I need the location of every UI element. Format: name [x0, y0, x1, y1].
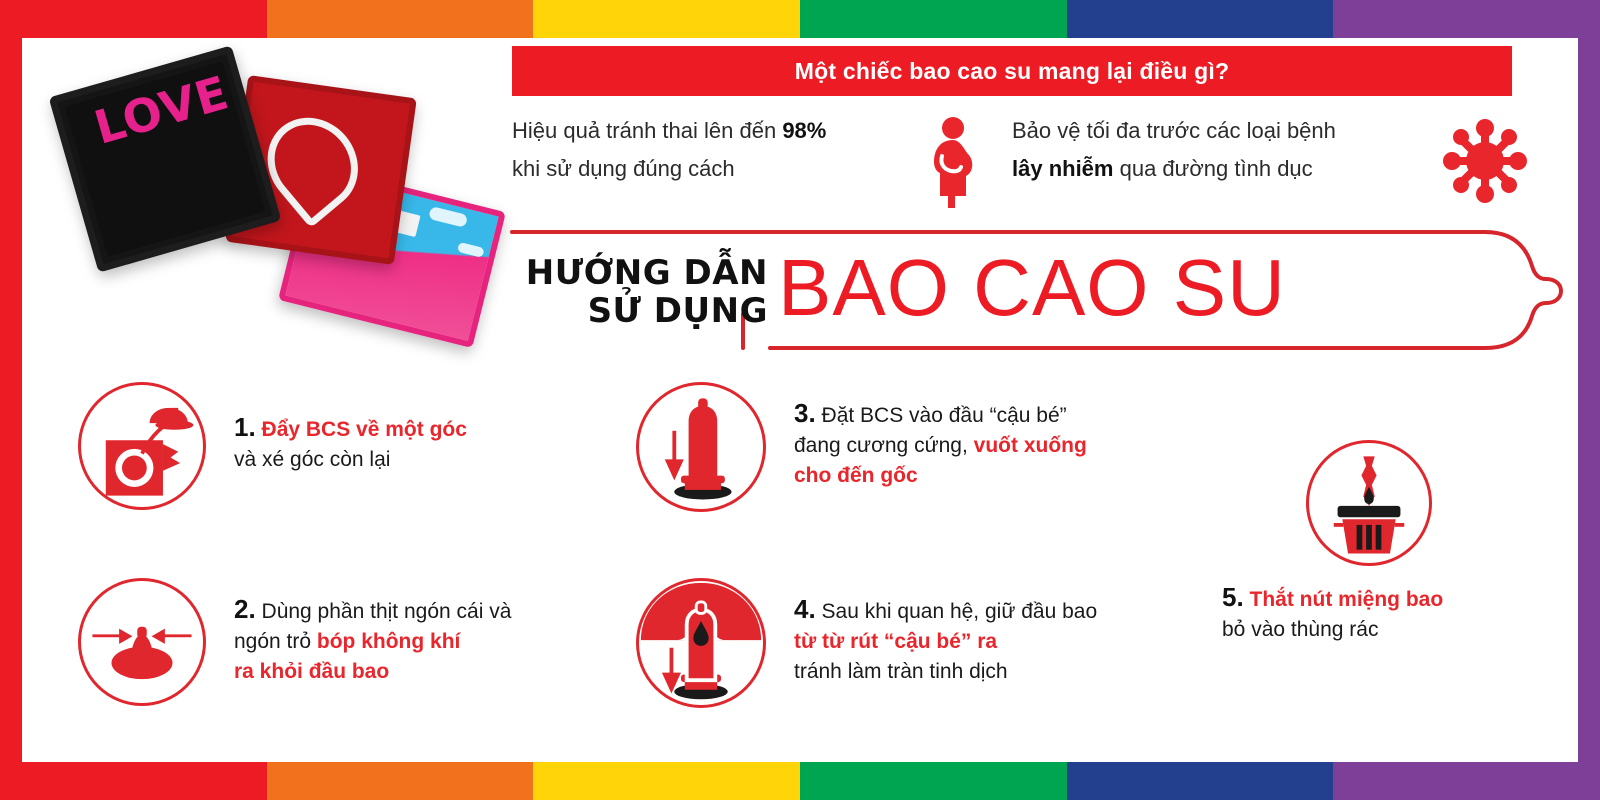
benefits-row: Hiệu quả tránh thai lên đến 98% khi sử d…	[512, 112, 1522, 212]
pinch-tip-arrows-icon	[78, 578, 206, 706]
step-2: 2. Dùng phần thịt ngón cái và ngón trỏ b…	[78, 578, 511, 706]
condom-packet-tear-icon	[78, 382, 206, 510]
step-4-line-3: tránh làm tràn tinh dịch	[794, 657, 1097, 687]
benefit-1-line1-plain: Hiệu quả tránh thai lên đến	[512, 118, 782, 143]
title-subtitle: HƯỚNG DẪN SỬ DỤNG	[518, 254, 768, 330]
condom-removal-drop-icon	[636, 578, 766, 708]
step-1-line-1: 1. Đẩy BCS về một góc	[234, 412, 467, 445]
step-4-text: 4. Sau khi quan hệ, giữ đầu bao từ từ rú…	[794, 594, 1097, 687]
step-2-line-2: ngón trỏ bóp không khí	[234, 627, 511, 657]
benefit-1-line2: khi sử dụng đúng cách	[512, 156, 735, 181]
step-4-line-2: từ từ rút “cậu bé” ra	[794, 627, 1097, 657]
title-subtitle-line2: SỬ DỤNG	[518, 292, 768, 330]
packet-black-label: LOVE	[65, 61, 266, 256]
pregnant-woman-icon	[920, 116, 984, 208]
step-2-line-3: ra khỏi đầu bao	[234, 657, 511, 687]
step-4-line-1: 4. Sau khi quan hệ, giữ đầu bao	[794, 594, 1097, 627]
benefit-infection: Bảo vệ tối đa trước các loại bệnh lây nh…	[1012, 112, 1432, 188]
title-block: HƯỚNG DẪN SỬ DỤNG BAO CAO SU	[510, 226, 1565, 354]
benefit-infection-text: Bảo vệ tối đa trước các loại bệnh lây nh…	[1012, 112, 1336, 188]
step-4: 4. Sau khi quan hệ, giữ đầu bao từ từ rú…	[636, 578, 1097, 708]
step-3-text: 3. Đặt BCS vào đầu “cậu bé” đang cương c…	[794, 398, 1087, 491]
step-1-line-2: và xé góc còn lại	[234, 445, 467, 475]
step-2-text: 2. Dùng phần thịt ngón cái và ngón trỏ b…	[234, 594, 511, 687]
step-2-line-1: 2. Dùng phần thịt ngón cái và	[234, 594, 511, 627]
step-3-line-2: đang cương cứng, vuốt xuống	[794, 431, 1087, 461]
header-banner-title: Một chiếc bao cao su mang lại điều gì?	[795, 58, 1229, 85]
benefit-1-line1-bold: 98%	[782, 118, 826, 143]
step-3: 3. Đặt BCS vào đầu “cậu bé” đang cương c…	[636, 382, 1087, 512]
virus-icon	[1442, 118, 1528, 204]
trash-bin-knot-icon	[1306, 440, 1432, 566]
step-3-line-3: cho đến gốc	[794, 461, 1087, 491]
title-main: BAO CAO SU	[778, 242, 1286, 334]
benefit-2-line2-plain: qua đường tình dục	[1113, 156, 1312, 181]
step-5: 5. Thắt nút miệng bao bỏ vào thùng rác	[1222, 440, 1562, 645]
benefit-2-line1: Bảo vệ tối đa trước các loại bệnh	[1012, 118, 1336, 143]
rolled-condom-down-arrow-icon	[636, 382, 766, 512]
infographic-page: LOVE ME LOVE Một chiếc bao cao su mang l…	[0, 0, 1600, 800]
benefit-contraception-text: Hiệu quả tránh thai lên đến 98% khi sử d…	[512, 112, 826, 188]
step-5-line-1: 5. Thắt nút miệng bao	[1222, 582, 1562, 615]
step-5-text: 5. Thắt nút miệng bao bỏ vào thùng rác	[1222, 582, 1562, 645]
step-3-line-1: 3. Đặt BCS vào đầu “cậu bé”	[794, 398, 1087, 431]
benefit-contraception: Hiệu quả tránh thai lên đến 98% khi sử d…	[512, 112, 942, 188]
condom-packets-photo: LOVE ME LOVE	[60, 58, 480, 358]
step-1: 1. Đẩy BCS về một góc và xé góc còn lại	[78, 382, 467, 510]
benefit-2-line2-bold: lây nhiễm	[1012, 156, 1113, 181]
step-1-text: 1. Đẩy BCS về một góc và xé góc còn lại	[234, 412, 467, 475]
header-banner: Một chiếc bao cao su mang lại điều gì?	[512, 46, 1512, 96]
step-5-line-2: bỏ vào thùng rác	[1222, 615, 1562, 645]
title-subtitle-line1: HƯỚNG DẪN	[518, 254, 768, 292]
